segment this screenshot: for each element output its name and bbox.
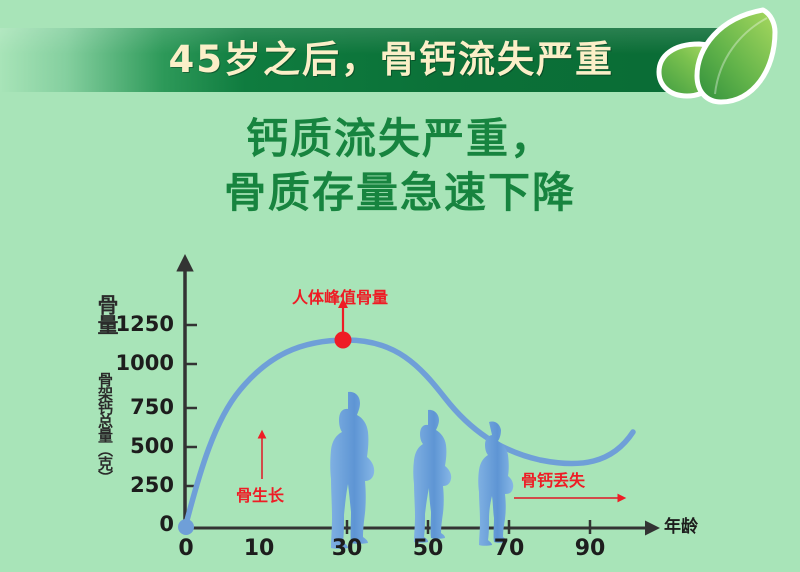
y-tick-label-1000: 1000 — [82, 351, 174, 375]
annotation-bone-growth: 骨生长 — [236, 482, 284, 506]
x-tick-label-10: 10 — [241, 536, 277, 561]
annotation-calcium-loss: 骨钙丢失 — [521, 467, 585, 491]
x-tick-label-30: 30 — [329, 536, 365, 561]
x-tick-label-50: 50 — [410, 536, 446, 561]
origin-dot — [178, 519, 194, 535]
y-tick-label-250: 250 — [82, 473, 174, 497]
annotation-peak-bone-mass: 人体峰值骨量 — [292, 284, 388, 308]
x-tick-label-70: 70 — [491, 536, 527, 561]
person-age-30 — [330, 392, 374, 549]
y-tick-label-500: 500 — [82, 434, 174, 458]
x-axis-title: 年龄 — [664, 512, 698, 537]
y-tick-label-750: 750 — [82, 395, 174, 419]
y-axis-subtitle: 骨架钙总量（克） — [95, 372, 116, 484]
y-tick-label-0: 0 — [82, 512, 174, 536]
y-tick-label-1250: 1250 — [82, 312, 174, 336]
person-age-50 — [413, 410, 451, 543]
x-tick-label-90: 90 — [572, 536, 608, 561]
x-tick-label-0: 0 — [168, 536, 204, 561]
y-axis-ticks — [185, 325, 197, 486]
